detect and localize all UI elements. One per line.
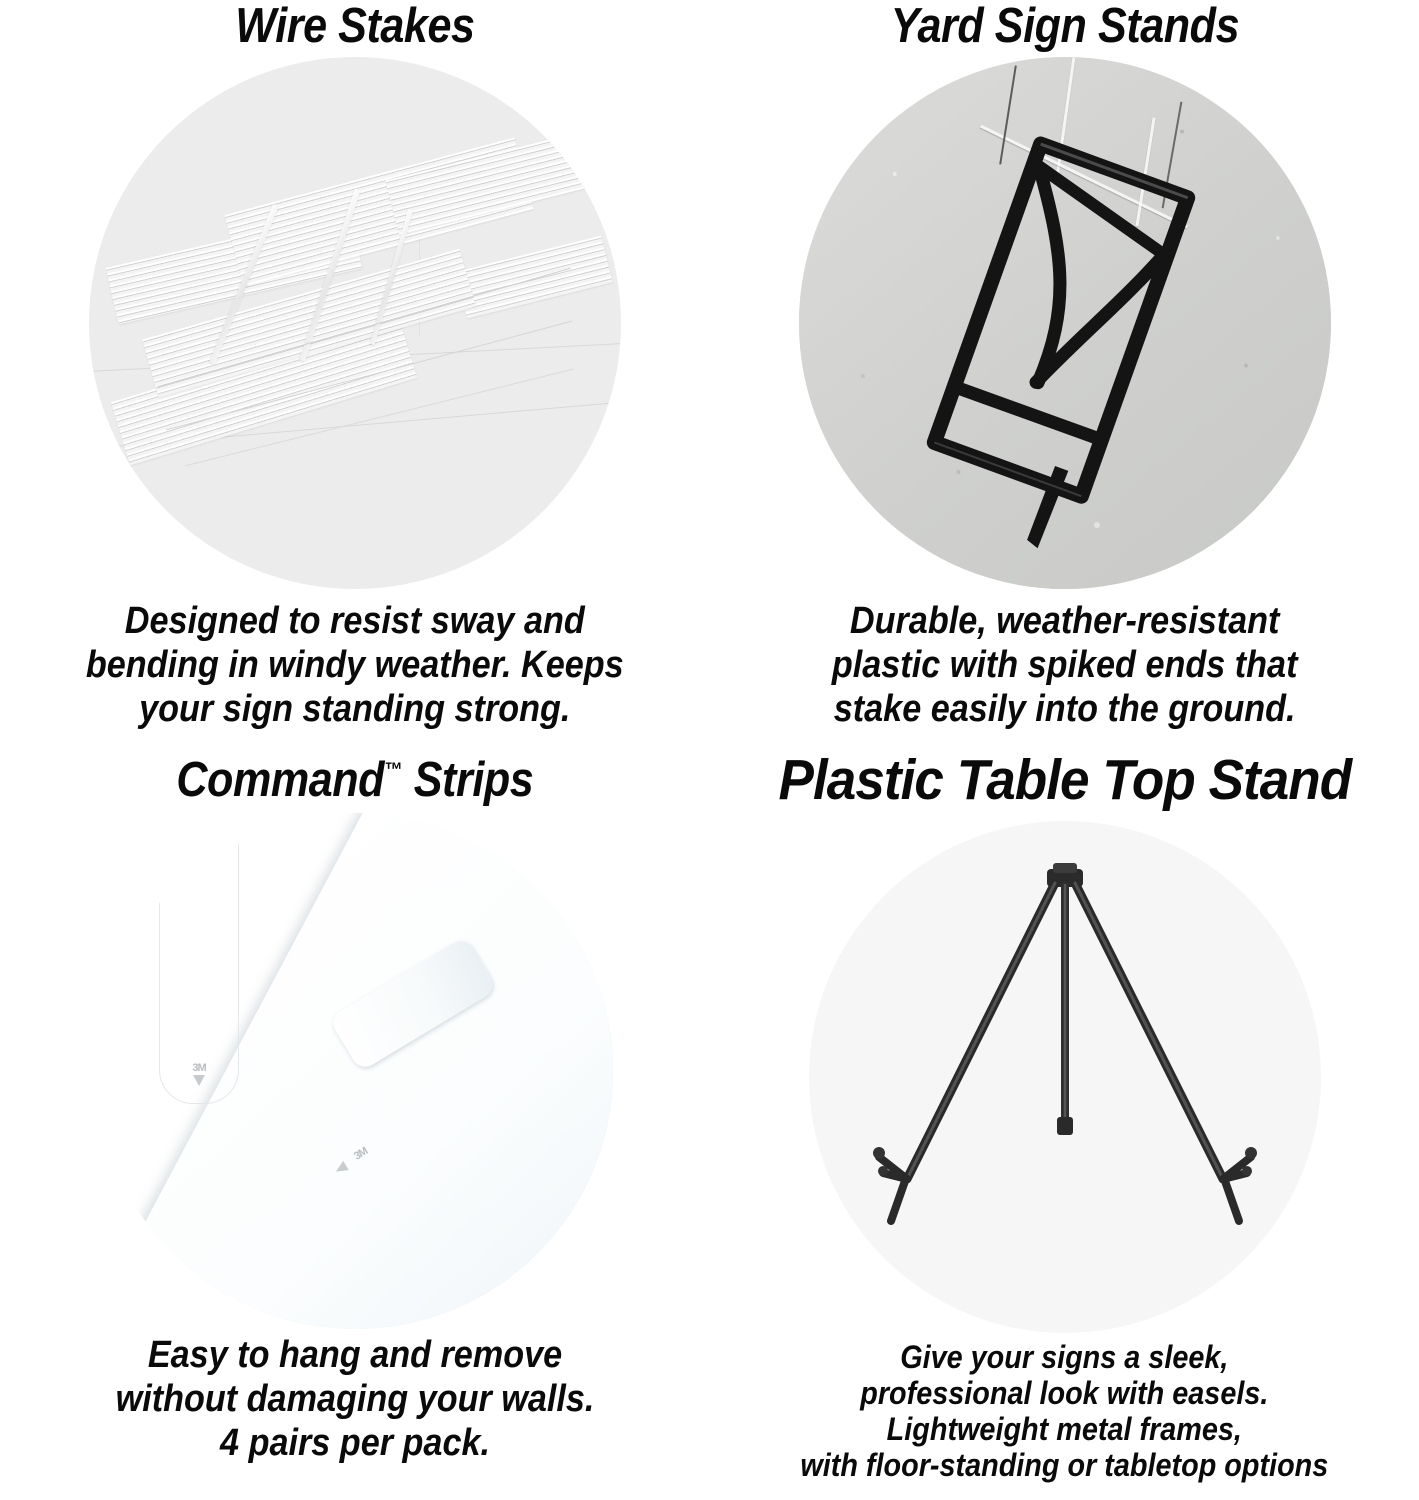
caption-line: without damaging your walls. (116, 1377, 595, 1421)
table-top-easel-photo (809, 821, 1321, 1333)
caption-line: Lightweight metal frames, (801, 1411, 1329, 1447)
yard-sign-stand-photo (799, 57, 1331, 589)
easel-graphic (809, 821, 1321, 1333)
panel-caption-wire-stakes: Designed to resist sway and bending in w… (86, 599, 624, 731)
panel-heading-plastic-table-top-stand: Plastic Table Top Stand (778, 752, 1351, 809)
panel-heading-command-strips: Command™ Strips (177, 756, 534, 805)
caption-line: Easy to hang and remove (116, 1333, 595, 1377)
caption-line: plastic with spiked ends that (832, 643, 1298, 687)
panel-heading-wire-stakes: Wire Stakes (235, 2, 474, 51)
panel-plastic-table-top-stand: Plastic Table Top Stand (710, 750, 1419, 1500)
yard-sign-frame-graphic (799, 57, 1331, 589)
caption-line: Give your signs a sleek, (801, 1339, 1329, 1375)
heading-text-suffix: Strips (402, 753, 533, 807)
panel-command-strips: Command™ Strips 3M 3M Easy to hang and r… (0, 750, 710, 1500)
infographic-sheet: Wire Stakes (0, 0, 1419, 1500)
panel-caption-yard-sign-stands: Durable, weather-resistant plastic with … (832, 599, 1298, 731)
panel-caption-plastic-table-top-stand: Give your signs a sleek, professional lo… (801, 1339, 1329, 1484)
wire-stakes-photo (89, 57, 621, 589)
panel-heading-yard-sign-stands: Yard Sign Stands (890, 2, 1238, 51)
caption-line: with floor-standing or tabletop options (801, 1447, 1329, 1483)
caption-line: Designed to resist sway and (86, 599, 624, 643)
caption-line: professional look with easels. (801, 1375, 1329, 1411)
caption-line: your sign standing strong. (86, 687, 624, 731)
command-strips-photo: 3M 3M (97, 813, 613, 1329)
heading-text: Command (177, 753, 385, 807)
panel-wire-stakes: Wire Stakes (0, 0, 710, 750)
panel-yard-sign-stands: Yard Sign Stands (710, 0, 1419, 750)
caption-line: stake easily into the ground. (832, 687, 1298, 731)
panel-caption-command-strips: Easy to hang and remove without damaging… (116, 1333, 595, 1465)
caption-line: Durable, weather-resistant (832, 599, 1298, 643)
3m-logo-left: 3M (183, 1063, 215, 1074)
trademark-symbol: ™ (384, 758, 402, 781)
caption-line: bending in windy weather. Keeps (86, 643, 624, 687)
caption-line: 4 pairs per pack. (116, 1421, 595, 1465)
